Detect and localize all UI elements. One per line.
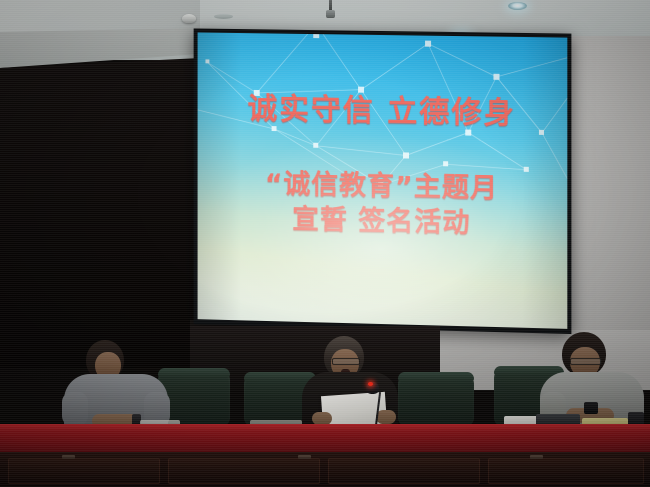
table-panel-section bbox=[168, 458, 320, 484]
wall-left-dark bbox=[0, 58, 200, 368]
table-panel-section bbox=[8, 458, 160, 484]
slide-subtitle-line2: 宣誓 签名活动 bbox=[198, 201, 568, 244]
projection-screen: 诚实守信 立德修身 “诚信教育”主题月 宣誓 签名活动 bbox=[198, 32, 568, 328]
wall-right bbox=[560, 36, 650, 376]
person-center-speaker bbox=[300, 336, 405, 436]
handheld-device-icon bbox=[584, 402, 598, 414]
hand-right bbox=[376, 410, 396, 424]
arm-left bbox=[62, 392, 88, 426]
chair bbox=[398, 372, 474, 426]
table-hardware bbox=[530, 455, 543, 459]
eyeglasses-icon bbox=[332, 358, 360, 365]
table-hardware bbox=[62, 455, 75, 459]
chair-backrest bbox=[398, 372, 474, 381]
slide-text-block: 诚实守信 立德修身 “诚信教育”主题月 宣誓 签名活动 bbox=[198, 92, 568, 243]
microphone-indicator-led bbox=[368, 382, 373, 386]
photo-scene: 诚实守信 立德修身 “诚信教育”主题月 宣誓 签名活动 bbox=[0, 0, 650, 487]
table-panel-section bbox=[488, 458, 644, 484]
slide-headline: 诚实守信 立德修身 bbox=[198, 92, 568, 131]
eyeglasses-icon bbox=[570, 358, 602, 365]
sprinkler-head-icon bbox=[326, 10, 335, 18]
downlight-icon bbox=[508, 2, 527, 10]
tablecloth-highlight bbox=[0, 424, 650, 431]
table-panel-section bbox=[328, 458, 480, 484]
ceiling-vent-icon bbox=[214, 14, 233, 19]
projection-screen-frame: 诚实守信 立德修身 “诚信教育”主题月 宣誓 签名活动 bbox=[194, 28, 572, 334]
table-hardware bbox=[298, 455, 311, 459]
smoke-detector-icon bbox=[182, 14, 196, 23]
slide-subtitle-block: “诚信教育”主题月 宣誓 签名活动 bbox=[198, 166, 568, 243]
